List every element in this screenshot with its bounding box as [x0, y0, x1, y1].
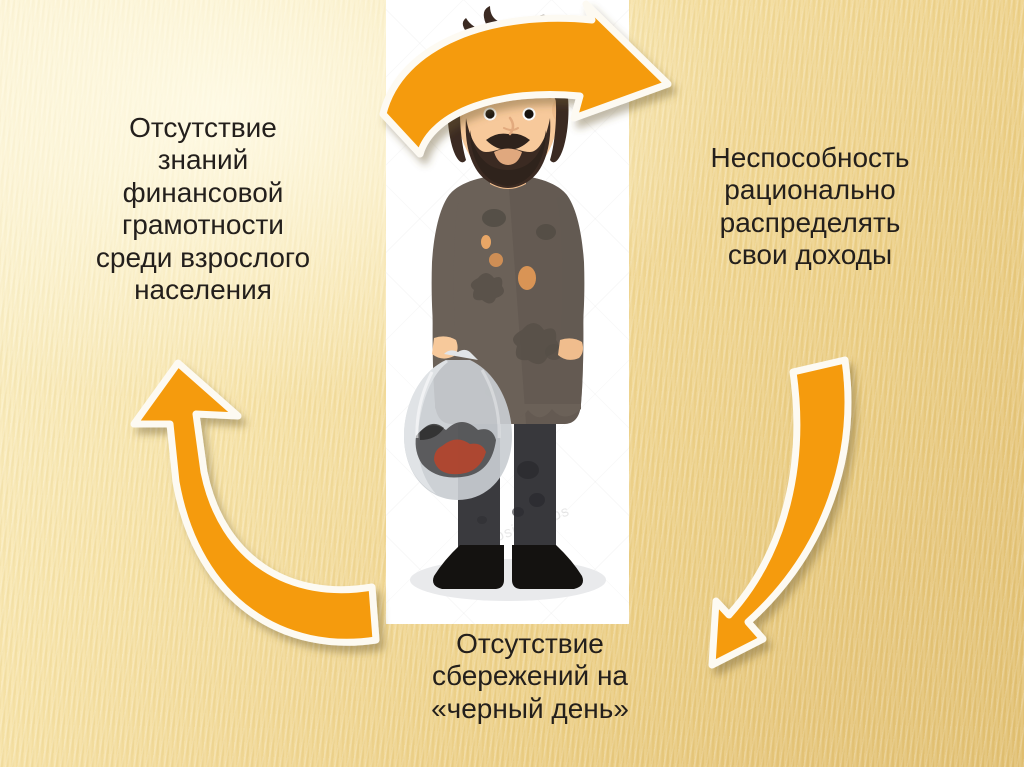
slide-canvas: depositphotos depositphotos depositphoto…	[0, 0, 1024, 767]
caption-right: Неспособность рационально распределять с…	[660, 142, 960, 272]
caption-left: Отсутствие знаний финансовой грамотности…	[8, 112, 398, 307]
caption-bottom: Отсутствие сбережений на «черный день»	[380, 628, 680, 725]
poor-man-illustration	[386, 0, 629, 624]
